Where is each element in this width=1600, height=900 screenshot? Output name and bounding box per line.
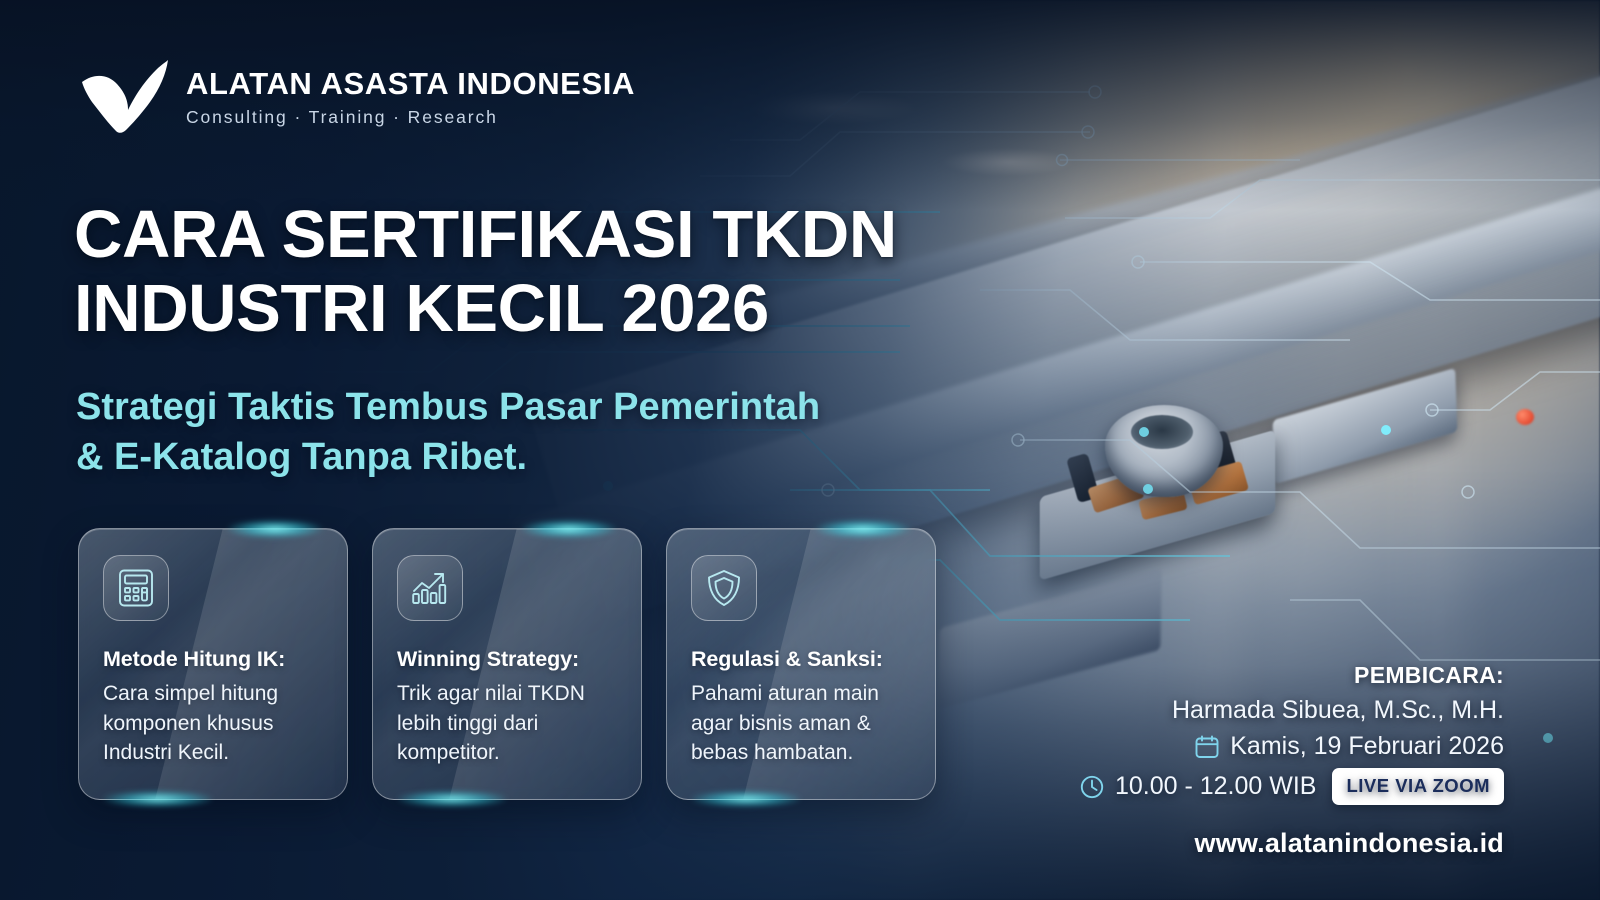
feature-card-regulasi-sanksi[interactable]: Regulasi & Sanksi: Pahami aturan main ag… [666, 528, 936, 800]
event-info: PEMBICARA: Harmada Sibuea, M.Sc., M.H. K… [1079, 662, 1504, 805]
feature-card-metode-hitung-ik[interactable]: Metode Hitung IK: Cara simpel hitung kom… [78, 528, 348, 800]
page-subtitle: Strategi Taktis Tembus Pasar Pemerintah … [76, 382, 1006, 482]
subhead-line-1: Strategi Taktis Tembus Pasar Pemerintah [76, 382, 1006, 432]
shield-icon [706, 568, 742, 608]
headline-line-1: CARA SERTIFIKASI TKDN [74, 197, 897, 272]
clock-icon [1079, 774, 1105, 800]
headline-line-2: INDUSTRI KECIL 2026 [74, 272, 1074, 346]
event-date-row: Kamis, 19 Februari 2026 [1079, 732, 1504, 761]
bird-checkmark-logo-icon [76, 58, 168, 134]
card-body: Trik agar nilai TKDN lebih tinggi dari k… [397, 679, 619, 768]
promo-banner: ALATAN ASASTA INDONESIA Consulting · Tra… [0, 0, 1600, 900]
brand-name: ALATAN ASASTA INDONESIA [186, 68, 635, 101]
card-glow-top-right [521, 520, 617, 538]
growth-bar-chart-icon [410, 569, 450, 607]
banner-content: ALATAN ASASTA INDONESIA Consulting · Tra… [0, 0, 1600, 900]
card-glow-top-right [815, 520, 911, 538]
subhead-line-2: & E-Katalog Tanpa Ribet. [76, 432, 1006, 482]
status-badge[interactable]: LIVE VIA ZOOM [1332, 768, 1504, 805]
calculator-icon [117, 568, 155, 608]
speaker-label: PEMBICARA: [1079, 662, 1504, 689]
feature-cards: Metode Hitung IK: Cara simpel hitung kom… [78, 528, 936, 800]
brand-tagline: Consulting · Training · Research [186, 107, 635, 128]
calculator-icon-frame [103, 555, 169, 621]
card-body: Pahami aturan main agar bisnis aman & be… [691, 679, 913, 768]
speaker-name: Harmada Sibuea, M.Sc., M.H. [1079, 696, 1504, 725]
shield-icon-frame [691, 555, 757, 621]
brand-logo-text: ALATAN ASASTA INDONESIA Consulting · Tra… [186, 64, 635, 129]
website-url[interactable]: www.alatanindonesia.id [1195, 828, 1504, 859]
card-title: Regulasi & Sanksi: [691, 647, 913, 672]
growth-bar-chart-icon-frame [397, 555, 463, 621]
event-date: Kamis, 19 Februari 2026 [1230, 732, 1504, 761]
calendar-icon [1194, 734, 1220, 760]
card-glow-bottom-left [691, 791, 801, 807]
event-time: 10.00 - 12.00 WIB [1115, 772, 1317, 801]
card-glow-bottom-left [397, 791, 507, 807]
card-title: Metode Hitung IK: [103, 647, 325, 672]
card-body: Cara simpel hitung komponen khusus Indus… [103, 679, 325, 768]
card-glow-top-right [227, 520, 323, 538]
brand-logo[interactable]: ALATAN ASASTA INDONESIA Consulting · Tra… [76, 58, 635, 134]
card-title: Winning Strategy: [397, 647, 619, 672]
card-glow-bottom-left [103, 791, 213, 807]
page-title: CARA SERTIFIKASI TKDN INDUSTRI KECIL 202… [74, 198, 1074, 345]
event-time-row: 10.00 - 12.00 WIB LIVE VIA ZOOM [1079, 768, 1504, 805]
feature-card-winning-strategy[interactable]: Winning Strategy: Trik agar nilai TKDN l… [372, 528, 642, 800]
